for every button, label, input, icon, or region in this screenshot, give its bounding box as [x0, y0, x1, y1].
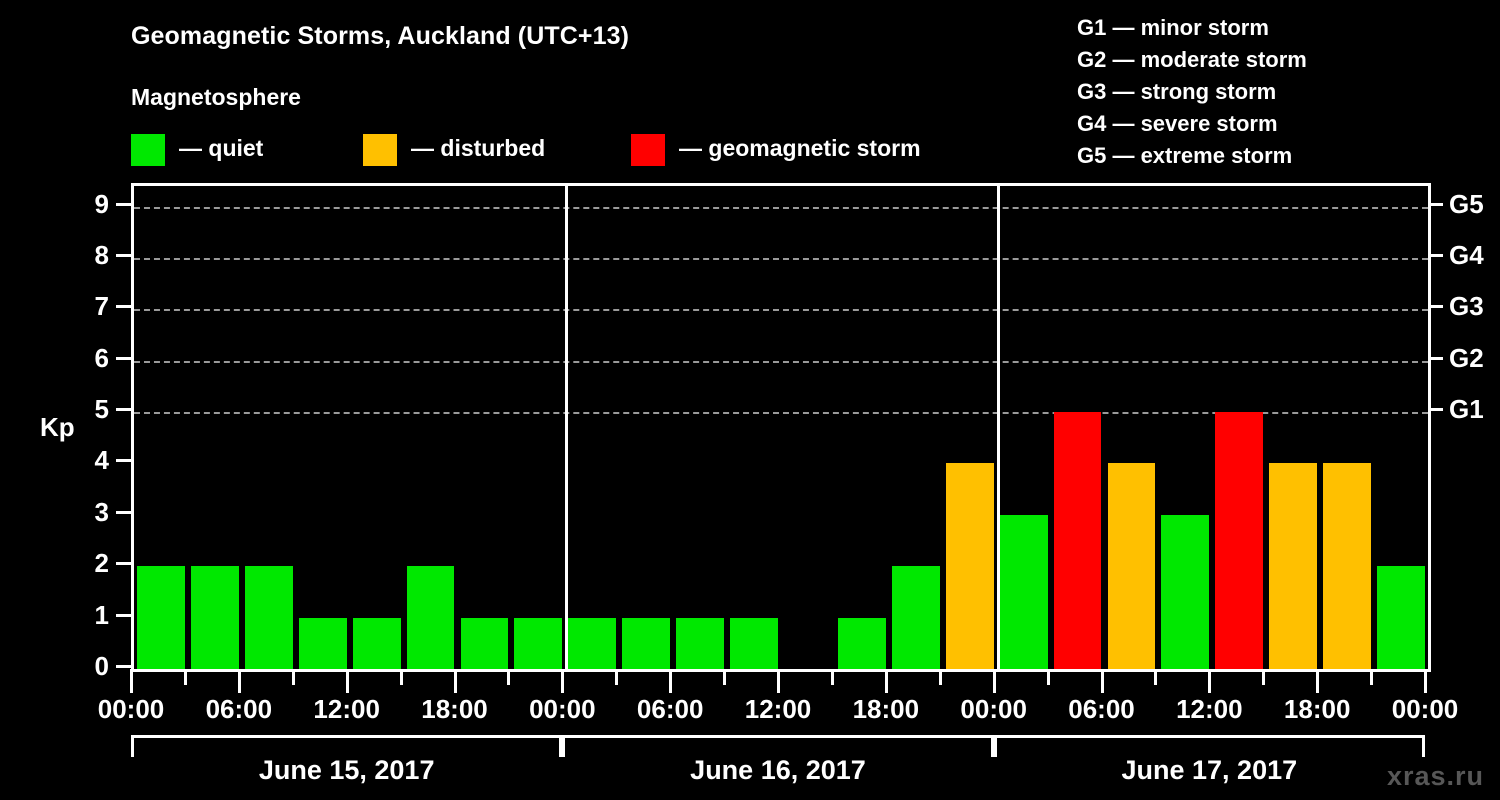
- bar: [514, 618, 562, 669]
- y-tick-mark-6: [116, 357, 131, 360]
- x-tick: [723, 669, 726, 685]
- x-tick: [184, 669, 187, 685]
- day-bracket: [131, 735, 562, 757]
- y-tick-label-3: 3: [69, 499, 109, 525]
- x-tick: [615, 669, 618, 685]
- legend-label: — quiet: [179, 135, 263, 162]
- y-tick-mark-4: [116, 459, 131, 462]
- bar: [407, 566, 455, 669]
- bar: [1323, 463, 1371, 669]
- x-tick: [130, 669, 133, 693]
- bar: [1000, 515, 1048, 669]
- gridline-kp-8: [134, 258, 1428, 260]
- y-tick-mark-5: [116, 408, 131, 411]
- legend-label: — geomagnetic storm: [679, 135, 921, 162]
- y-tick-label-8: 8: [69, 242, 109, 268]
- x-tick: [1316, 669, 1319, 693]
- watermark: xras.ru: [1387, 761, 1484, 792]
- bar: [892, 566, 940, 669]
- g-tick-label-G1: G1: [1449, 396, 1484, 422]
- legend-label: — disturbed: [411, 135, 545, 162]
- x-tick: [507, 669, 510, 685]
- y-tick-label-7: 7: [69, 293, 109, 319]
- x-tick: [346, 669, 349, 693]
- bar: [1054, 412, 1102, 669]
- y-tick-mark-3: [116, 511, 131, 514]
- x-tick: [1154, 669, 1157, 685]
- x-tick: [669, 669, 672, 693]
- g-legend-row-2: G2 — moderate storm: [1077, 44, 1407, 76]
- y-tick-label-6: 6: [69, 345, 109, 371]
- green-swatch: [131, 134, 165, 166]
- x-tick: [400, 669, 403, 685]
- y-tick-mark-1: [116, 614, 131, 617]
- day-separator: [565, 183, 568, 669]
- bar: [1269, 463, 1317, 669]
- page-title: Geomagnetic Storms, Auckland (UTC+13): [131, 22, 629, 51]
- g-tick-label-G3: G3: [1449, 293, 1484, 319]
- x-tick: [1262, 669, 1265, 685]
- x-tick: [777, 669, 780, 693]
- y-tick-label-1: 1: [69, 602, 109, 628]
- chart-subtitle: Magnetosphere: [131, 84, 301, 111]
- g-tick-label-G4: G4: [1449, 242, 1484, 268]
- g-scale-legend: G1 — minor stormG2 — moderate stormG3 — …: [1077, 12, 1407, 172]
- bar: [1377, 566, 1425, 669]
- orange-swatch: [363, 134, 397, 166]
- bar: [353, 618, 401, 669]
- x-tick: [885, 669, 888, 693]
- bar: [1161, 515, 1209, 669]
- x-tick-label: 00:00: [1360, 694, 1490, 725]
- g-tick-label-G5: G5: [1449, 191, 1484, 217]
- gridline-kp-6: [134, 361, 1428, 363]
- bar: [1215, 412, 1263, 669]
- x-tick: [561, 669, 564, 693]
- bar: [1108, 463, 1156, 669]
- y-tick-mark-7: [116, 305, 131, 308]
- x-tick: [1208, 669, 1211, 693]
- red-swatch: [631, 134, 665, 166]
- g-legend-row-1: G1 — minor storm: [1077, 12, 1407, 44]
- bar: [191, 566, 239, 669]
- g-legend-row-5: G5 — extreme storm: [1077, 140, 1407, 172]
- x-tick: [993, 669, 996, 693]
- y-axis-title: Kp: [40, 412, 75, 443]
- g-legend-row-3: G3 — strong storm: [1077, 76, 1407, 108]
- bar: [137, 566, 185, 669]
- bar: [568, 618, 616, 669]
- bar: [461, 618, 509, 669]
- y-tick-mark-2: [116, 562, 131, 565]
- bar: [622, 618, 670, 669]
- bar: [299, 618, 347, 669]
- g-tick-label-G2: G2: [1449, 345, 1484, 371]
- bar: [838, 618, 886, 669]
- x-tick: [939, 669, 942, 685]
- y-tick-mark-8: [116, 254, 131, 257]
- y-tick-label-4: 4: [69, 447, 109, 473]
- bar: [245, 566, 293, 669]
- x-tick: [238, 669, 241, 693]
- g-legend-row-4: G4 — severe storm: [1077, 108, 1407, 140]
- gridline-kp-7: [134, 309, 1428, 311]
- day-label: June 15, 2017: [131, 755, 562, 786]
- gridline-kp-9: [134, 207, 1428, 209]
- x-tick: [1424, 669, 1427, 693]
- day-bracket: [994, 735, 1425, 757]
- x-tick: [1370, 669, 1373, 685]
- day-label: June 16, 2017: [562, 755, 993, 786]
- bar: [730, 618, 778, 669]
- x-tick: [831, 669, 834, 685]
- x-tick: [1101, 669, 1104, 693]
- chart-root: Geomagnetic Storms, Auckland (UTC+13) Ma…: [0, 0, 1500, 800]
- day-label: June 17, 2017: [994, 755, 1425, 786]
- y-tick-label-0: 0: [69, 653, 109, 679]
- plot-area: [131, 183, 1431, 672]
- y-tick-label-9: 9: [69, 191, 109, 217]
- y-tick-label-2: 2: [69, 550, 109, 576]
- day-separator: [997, 183, 1000, 669]
- y-tick-label-5: 5: [69, 396, 109, 422]
- day-bracket: [562, 735, 993, 757]
- y-tick-mark-9: [116, 203, 131, 206]
- x-tick: [292, 669, 295, 685]
- x-tick: [454, 669, 457, 693]
- bar: [676, 618, 724, 669]
- x-tick: [1047, 669, 1050, 685]
- bar: [946, 463, 994, 669]
- y-tick-mark-0: [116, 665, 131, 668]
